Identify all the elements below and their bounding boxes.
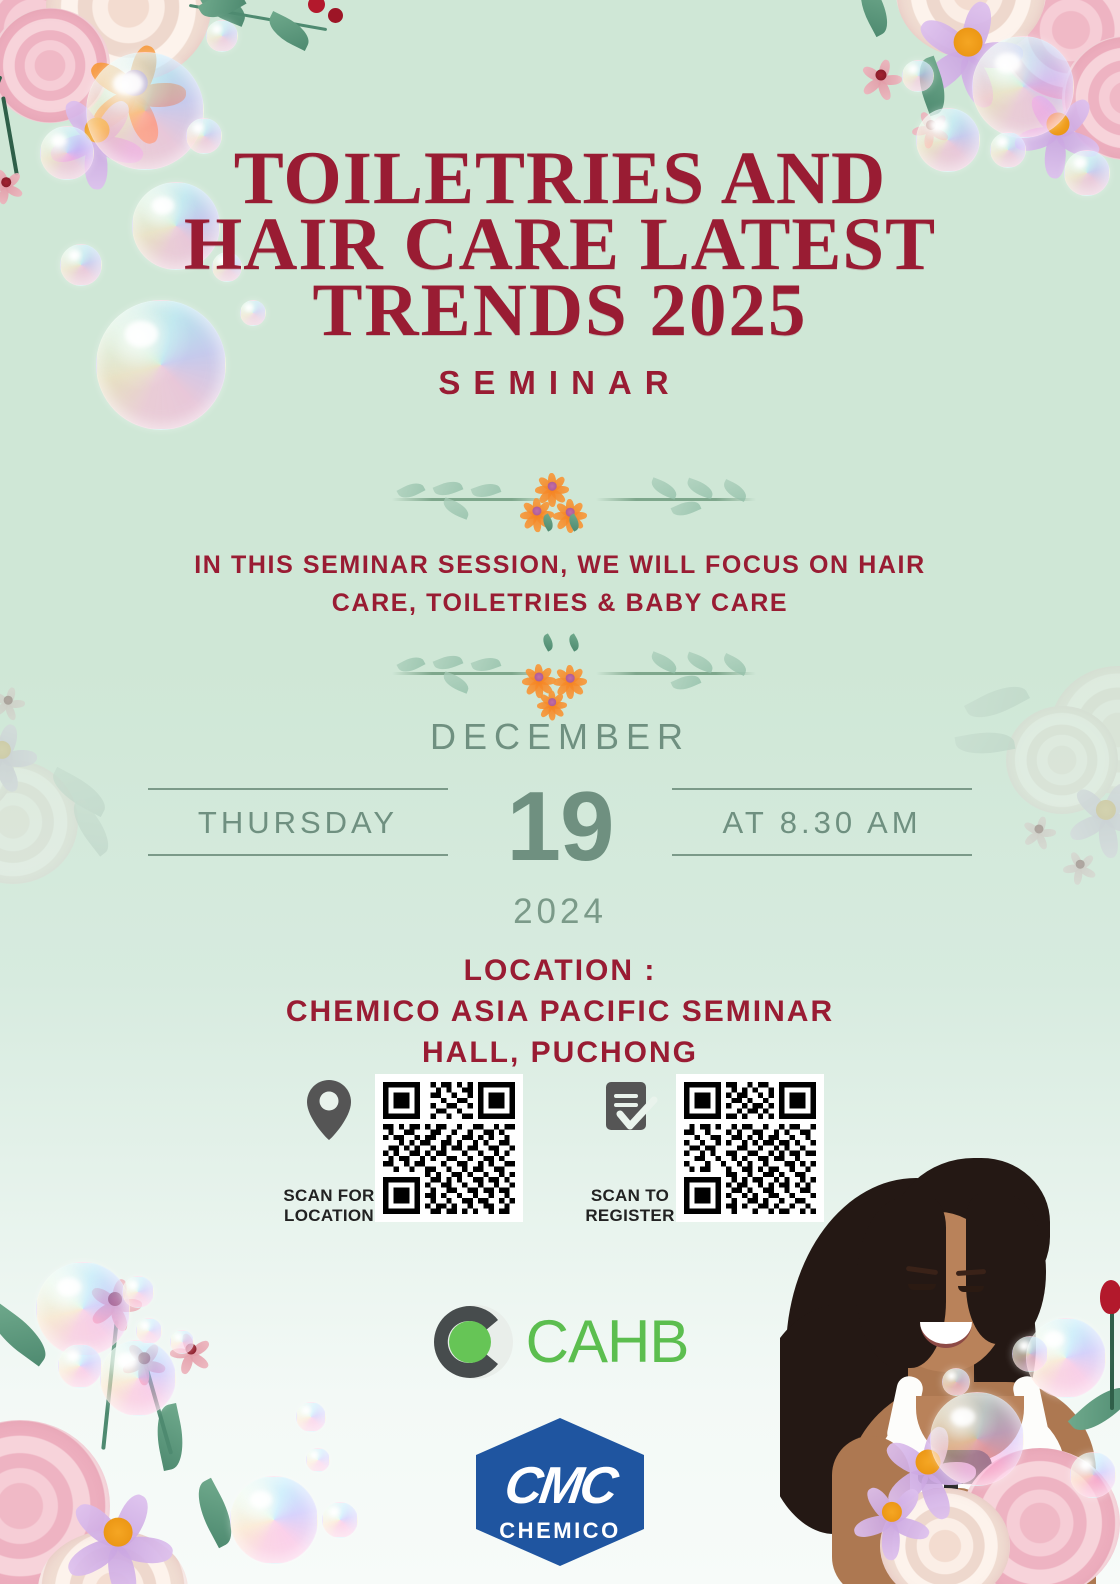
leaf-icon [153, 0, 214, 4]
leaf-icon [685, 652, 716, 674]
bubble-decor [206, 20, 238, 52]
bubble-decor [1012, 1336, 1048, 1372]
event-weekday-cell: THURSDAY [148, 788, 448, 856]
subtitle-seminar: SEMINAR [0, 364, 1120, 402]
chemico-wordmark: CHEMICO [476, 1518, 644, 1544]
hexagon-shape: CMC CHEMICO [476, 1418, 644, 1566]
leaf-icon [649, 477, 680, 500]
location-block: LOCATION : CHEMICO ASIA PACIFIC SEMINAR … [60, 950, 1060, 1073]
rule-bottom [672, 854, 972, 856]
location-line-1: CHEMICO ASIA PACIFIC SEMINAR [60, 991, 1060, 1032]
ornament-divider-top [0, 470, 1120, 526]
leaf-icon [649, 651, 680, 674]
leaf-icon [433, 651, 464, 674]
qr-register-caption-line-2: REGISTER [585, 1206, 674, 1226]
focus-description: IN THIS SEMINAR SESSION, WE WILL FOCUS O… [60, 546, 1060, 622]
qr-location-caption-group: SCAN FOR LOCATION [283, 1074, 375, 1226]
leaf-icon [433, 477, 464, 500]
title-line-3: TRENDS 2025 [0, 278, 1120, 344]
location-line-2: HALL, PUCHONG [60, 1032, 1060, 1073]
bubble-decor [1070, 1452, 1116, 1498]
location-label: LOCATION : [60, 950, 1060, 991]
daisy-flower-icon [536, 686, 568, 718]
qr-register-caption: SCAN TO REGISTER [585, 1186, 674, 1226]
event-weekday: THURSDAY [148, 790, 448, 854]
leaf-icon [852, 0, 896, 37]
leaf-icon [685, 478, 716, 500]
top-left-berry-sprig [178, 0, 358, 110]
berry-icon [328, 8, 343, 23]
qr-location-caption-line-2: LOCATION [283, 1206, 374, 1226]
branch-line [596, 672, 756, 675]
rule-bottom [148, 854, 448, 856]
qr-code-location[interactable] [375, 1074, 523, 1222]
ornament-divider-bottom [0, 644, 1120, 700]
qr-code-register[interactable] [676, 1074, 824, 1222]
map-pin-icon [301, 1078, 357, 1142]
bubble-decor [942, 1368, 970, 1396]
focus-line-1: IN THIS SEMINAR SESSION, WE WILL FOCUS O… [60, 546, 1060, 584]
cahb-circle-mark-icon [432, 1300, 516, 1384]
bubble-decor [902, 60, 934, 92]
bubble-decor [972, 36, 1074, 138]
event-month: DECEMBER [0, 716, 1120, 758]
leaf-icon [540, 633, 556, 651]
eye [908, 1284, 936, 1290]
event-time: AT 8.30 AM [672, 790, 972, 854]
focus-line-2: CARE, TOILETRIES & BABY CARE [60, 584, 1060, 622]
seminar-poster: TOILETRIES AND HAIR CARE LATEST TRENDS 2… [0, 0, 1120, 1584]
event-date-block: DECEMBER 19 2024 THURSDAY AT 8.30 AM [0, 716, 1120, 936]
small-flower-icon [858, 52, 904, 98]
qr-section: SCAN FOR LOCATION [0, 1074, 1120, 1244]
qr-location-caption-line-1: SCAN FOR [283, 1186, 374, 1206]
cahb-wordmark: CAHB [526, 1312, 689, 1372]
form-check-icon [602, 1078, 658, 1142]
berry-icon [308, 0, 325, 13]
leaf-icon [264, 11, 315, 51]
qr-register-caption-group: SCAN TO REGISTER [584, 1074, 676, 1226]
qr-register-caption-line-1: SCAN TO [585, 1186, 674, 1206]
chemico-monogram: CMC [472, 1460, 647, 1512]
event-year: 2024 [0, 892, 1120, 932]
eye [958, 1286, 984, 1292]
title-block: TOILETRIES AND HAIR CARE LATEST TRENDS 2… [0, 146, 1120, 402]
bubble-decor [930, 1392, 1024, 1486]
leaf-icon [566, 633, 582, 651]
qr-group-register[interactable]: SCAN TO REGISTER [584, 1074, 824, 1226]
qr-group-location[interactable]: SCAN FOR LOCATION [283, 1074, 523, 1226]
event-time-cell: AT 8.30 AM [672, 788, 972, 856]
qr-location-caption: SCAN FOR LOCATION [283, 1186, 374, 1226]
branch-line [596, 498, 756, 501]
